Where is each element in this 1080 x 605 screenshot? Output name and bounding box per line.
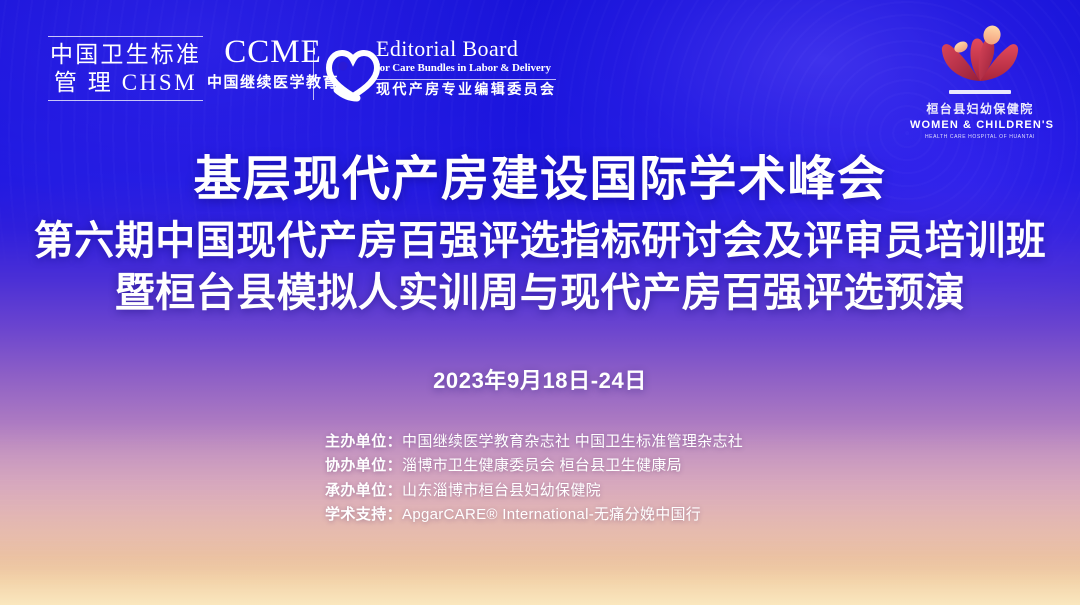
conference-banner: 中国卫生标准 管 理 CHSM CCME 中国继续医学教育 Editorial … xyxy=(0,0,1080,605)
organizer-value: 中国继续医学教育杂志社 中国卫生标准管理杂志社 xyxy=(402,430,743,454)
hospital-name-english: WOMEN & CHILDREN'S xyxy=(910,119,1050,131)
subtitle-line-2: 暨桓台县模拟人实训周与现代产房百强评选预演 xyxy=(0,269,1080,317)
hospital-name-chinese: 桓台县妇幼保健院 xyxy=(910,100,1050,117)
editorial-board-rule xyxy=(376,79,556,80)
subtitle-line-1: 第六期中国现代产房百强评选指标研讨会及评审员培训班 xyxy=(0,217,1080,265)
editorial-board-logo: Editorial Board for Care Bundles in Labo… xyxy=(376,38,556,98)
editorial-board-title: Editorial Board xyxy=(376,38,556,60)
title-block: 基层现代产房建设国际学术峰会 第六期中国现代产房百强评选指标研讨会及评审员培训班… xyxy=(0,152,1080,395)
logo-bar: 中国卫生标准 管 理 CHSM CCME 中国继续医学教育 Editorial … xyxy=(0,0,1080,150)
ccme-subtitle: 中国继续医学教育 xyxy=(207,75,339,90)
chsm-rule-bottom xyxy=(48,100,203,101)
editorial-board-chinese: 现代产房专业编辑委员会 xyxy=(376,84,556,98)
organizer-label: 承办单位： xyxy=(325,479,402,503)
chsm-logo-line1: 中国卫生标准 xyxy=(48,42,203,67)
organizer-value: 淄博市卫生健康委员会 桓台县卫生健康局 xyxy=(402,454,682,478)
hospital-name-english-sub: HEALTH CARE HOSPITAL OF HUANTAI xyxy=(910,134,1050,140)
chsm-logo: 中国卫生标准 管 理 CHSM xyxy=(48,36,203,101)
organizer-label: 学术支持： xyxy=(325,503,402,527)
ccme-acronym: CCME xyxy=(207,36,339,69)
organizer-value: 山东淄博市桓台县妇幼保健院 xyxy=(402,479,601,503)
huantai-women-children-hospital-logo: 桓台县妇幼保健院 WOMEN & CHILDREN'S HEALTH CARE … xyxy=(910,24,1050,140)
ccme-logo: CCME 中国继续医学教育 xyxy=(207,36,339,90)
organizer-label: 主办单位： xyxy=(325,430,402,454)
organizer-row: 学术支持： ApgarCARE® International-无痛分娩中国行 xyxy=(325,503,755,527)
heart-icon xyxy=(324,46,382,102)
organizer-value: ApgarCARE® International-无痛分娩中国行 xyxy=(402,503,701,527)
organizer-list: 主办单位： 中国继续医学教育杂志社 中国卫生标准管理杂志社 协办单位： 淄博市卫… xyxy=(0,430,1080,527)
event-date: 2023年9月18日-24日 xyxy=(0,363,1080,395)
chsm-logo-line2: 管 理 CHSM xyxy=(48,70,203,95)
organizer-row: 承办单位： 山东淄博市桓台县妇幼保健院 xyxy=(325,479,755,503)
lotus-flower-icon xyxy=(930,24,1030,86)
editorial-board-subtitle: for Care Bundles in Labor & Delivery xyxy=(376,63,556,74)
logo-divider xyxy=(313,42,314,100)
main-title: 基层现代产房建设国际学术峰会 xyxy=(0,152,1080,208)
chsm-rule-top xyxy=(48,36,203,37)
organizer-label: 协办单位： xyxy=(325,454,402,478)
organizer-row: 协办单位： 淄博市卫生健康委员会 桓台县卫生健康局 xyxy=(325,454,755,478)
hospital-logo-bar xyxy=(949,90,1011,94)
organizer-row: 主办单位： 中国继续医学教育杂志社 中国卫生标准管理杂志社 xyxy=(325,430,755,454)
